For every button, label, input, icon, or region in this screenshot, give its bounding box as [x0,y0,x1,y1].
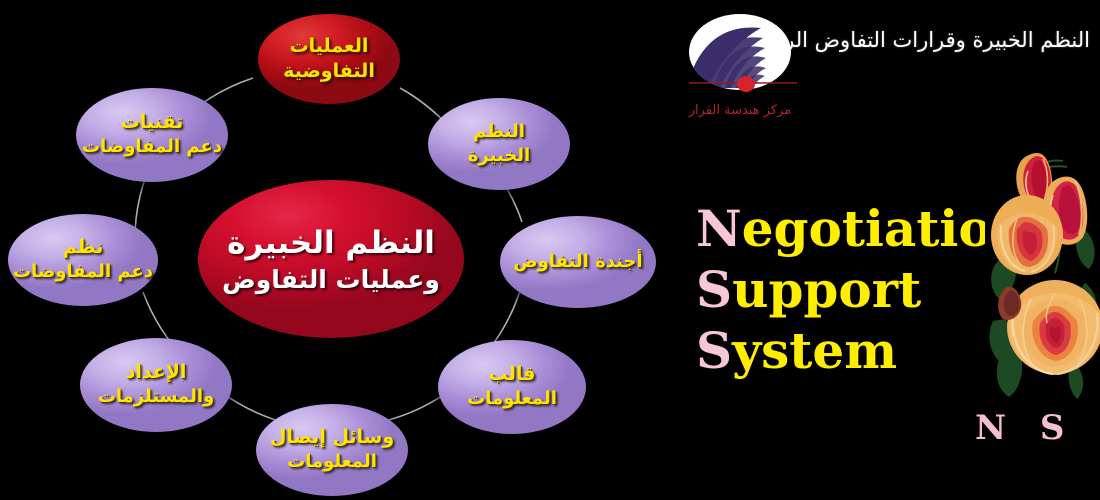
node-line1: وسائل إيصال [270,427,394,449]
brand-line-negotiation: Negotiation [696,198,1028,259]
brand-initial: N [696,199,742,258]
node-line2: والمستلزمات [98,387,214,408]
node-line1: النظم [473,122,525,143]
brand-line-system: System [696,320,1028,381]
node-line1: نظم [63,237,104,259]
node-line2: دعم المفاوضات [82,137,222,158]
node-line2: الخبيرة [468,146,530,167]
node-preparation-and-requirements[interactable]: الإعداد والمستلزمات [80,338,232,432]
center-node-line2: وعمليات التفاوض [222,265,440,294]
node-negotiation-agenda[interactable]: أجندة التفاوض [500,216,656,308]
brand-abbreviation: N S S [975,408,1100,448]
node-negotiation-support-techniques[interactable]: تقنيات دعم المفاوضات [76,88,228,182]
node-line1: الإعداد [126,362,187,384]
node-line2: المعلومات [467,389,557,410]
node-line1: قالب [489,364,536,386]
center-node[interactable]: النظم الخبيرة وعمليات التفاوض [198,180,464,338]
brand-wordmark: Negotiation Support System [696,198,1028,381]
brand-line-support: Support [696,259,1028,320]
node-line2: المعلومات [287,452,377,473]
right-panel: النظم الخبيرة وقرارات التفاوض الرشيدة [660,0,1100,500]
brand-initial: S [696,321,732,380]
node-line1: أجندة التفاوض [513,252,642,273]
decision-engineering-center-logo-icon [665,8,815,100]
node-negotiation-processes[interactable]: العمليات التفاوضية [258,14,400,104]
roses-photo [985,115,1100,405]
node-information-delivery-means[interactable]: وسائل إيصال المعلومات [256,404,408,496]
brand-rest: upport [732,260,921,319]
brand-initial: S [696,260,732,319]
slide-canvas: النظم الخبيرة وعمليات التفاوض العمليات ا… [0,0,1100,500]
logo[interactable]: مركز هندسة القرار [665,8,815,128]
node-expert-systems[interactable]: النظم الخبيرة [428,98,570,190]
node-information-template[interactable]: قالب المعلومات [438,340,586,434]
node-line1: العمليات [290,36,369,58]
center-node-line1: النظم الخبيرة [227,225,435,261]
roses-illustration [985,115,1100,405]
node-line2: دعم المفاوضات [13,262,153,283]
ring-diagram: النظم الخبيرة وعمليات التفاوض العمليات ا… [0,0,660,500]
node-line2: التفاوضية [283,61,375,83]
logo-caption: مركز هندسة القرار [665,103,815,118]
node-negotiation-support-systems[interactable]: نظم دعم المفاوضات [8,214,158,306]
brand-rest: ystem [732,321,897,380]
node-line1: تقنيات [121,112,184,134]
